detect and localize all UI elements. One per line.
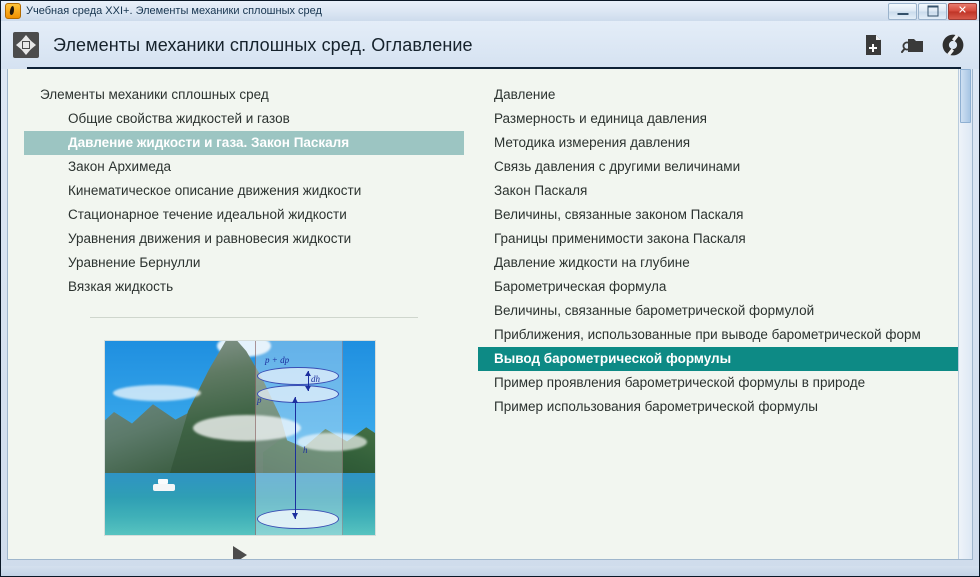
topic-item-0[interactable]: Давление: [478, 83, 956, 107]
topic-item-12[interactable]: Пример проявления барометрической формул…: [478, 371, 956, 395]
topic-item-8[interactable]: Барометрическая формула: [478, 275, 956, 299]
maximize-icon: [927, 6, 938, 17]
barometric-formula-illustration[interactable]: p + dp p dh h: [104, 340, 376, 536]
window-controls: ✕: [888, 3, 977, 20]
label-height: h: [303, 445, 308, 455]
preview-thumbnail-wrapper: p + dp p dh h: [8, 340, 478, 536]
open-search-folder-icon[interactable]: [901, 33, 925, 57]
close-icon: ✕: [958, 6, 967, 17]
label-bottom-pressure: p: [257, 395, 262, 405]
window-title: Учебная среда XXI+. Элементы механики сп…: [26, 1, 888, 21]
topic-item-5[interactable]: Величины, связанные законом Паскаля: [478, 203, 956, 227]
chapter-item-4[interactable]: Кинематическое описание движения жидкост…: [24, 179, 464, 203]
chapter-item-2-selected[interactable]: Давление жидкости и газа. Закон Паскаля: [24, 131, 464, 155]
label-thickness: dh: [311, 374, 320, 384]
minimize-icon: [897, 13, 908, 15]
application-window: Учебная среда XXI+. Элементы механики сп…: [0, 0, 980, 577]
chapter-item-6[interactable]: Уравнения движения и равновесия жидкости: [24, 227, 464, 251]
cloud-icon: [113, 385, 201, 401]
chapter-item-0[interactable]: Элементы механики сплошных сред: [24, 83, 464, 107]
chapter-item-5[interactable]: Стационарное течение идеальной жидкости: [24, 203, 464, 227]
lower-disc: [257, 385, 339, 403]
close-button[interactable]: ✕: [948, 3, 977, 20]
topic-item-3[interactable]: Связь давления с другими величинами: [478, 155, 956, 179]
topic-item-10[interactable]: Приближения, использованные при выводе б…: [478, 323, 956, 347]
page-title: Элементы механики сплошных сред. Оглавле…: [53, 35, 861, 56]
minimize-button[interactable]: [888, 3, 917, 20]
boat-icon: [153, 484, 175, 491]
topic-item-2[interactable]: Методика измерения давления: [478, 131, 956, 155]
topic-item-4[interactable]: Закон Паскаля: [478, 179, 956, 203]
contents-area: Элементы механики сплошных сред Общие св…: [7, 69, 973, 560]
height-arrow: [295, 397, 296, 519]
play-triangle-icon[interactable]: [233, 546, 247, 560]
vertical-scrollbar[interactable]: [958, 69, 972, 559]
chapter-list: Элементы механики сплошных сред Общие св…: [8, 69, 478, 559]
topic-item-1[interactable]: Размерность и единица давления: [478, 107, 956, 131]
new-document-icon[interactable]: [861, 33, 885, 57]
book-flame-icon: [5, 3, 21, 19]
chapter-item-1[interactable]: Общие свойства жидкостей и газов: [24, 107, 464, 131]
maximize-button[interactable]: [918, 3, 947, 20]
topic-item-11-selected[interactable]: Вывод барометрической формулы: [478, 347, 972, 371]
topic-list: Давление Размерность и единица давления …: [478, 69, 972, 559]
page-header: Элементы механики сплошных сред. Оглавле…: [1, 21, 979, 69]
thickness-arrow: [308, 371, 309, 391]
title-bar: Учебная среда XXI+. Элементы механики сп…: [1, 1, 979, 21]
header-toolbar: [861, 33, 965, 57]
chapter-item-8[interactable]: Вязкая жидкость: [24, 275, 464, 299]
play-row: [8, 546, 376, 560]
four-way-arrow-icon[interactable]: [13, 32, 39, 58]
label-top-pressure: p + dp: [265, 355, 289, 365]
chapter-item-3[interactable]: Закон Архимеда: [24, 155, 464, 179]
status-bar: [1, 566, 979, 576]
upper-disc: [257, 367, 339, 385]
topic-item-6[interactable]: Границы применимости закона Паскаля: [478, 227, 956, 251]
topic-item-13[interactable]: Пример использования барометрической фор…: [478, 395, 956, 419]
help-ring-icon[interactable]: [941, 33, 965, 57]
scrollbar-thumb[interactable]: [960, 69, 971, 123]
topic-item-7[interactable]: Давление жидкости на глубине: [478, 251, 956, 275]
base-disc: [257, 509, 339, 529]
topic-item-9[interactable]: Величины, связанные барометрической форм…: [478, 299, 956, 323]
section-divider: [90, 317, 418, 318]
chapter-item-7[interactable]: Уравнение Бернулли: [24, 251, 464, 275]
